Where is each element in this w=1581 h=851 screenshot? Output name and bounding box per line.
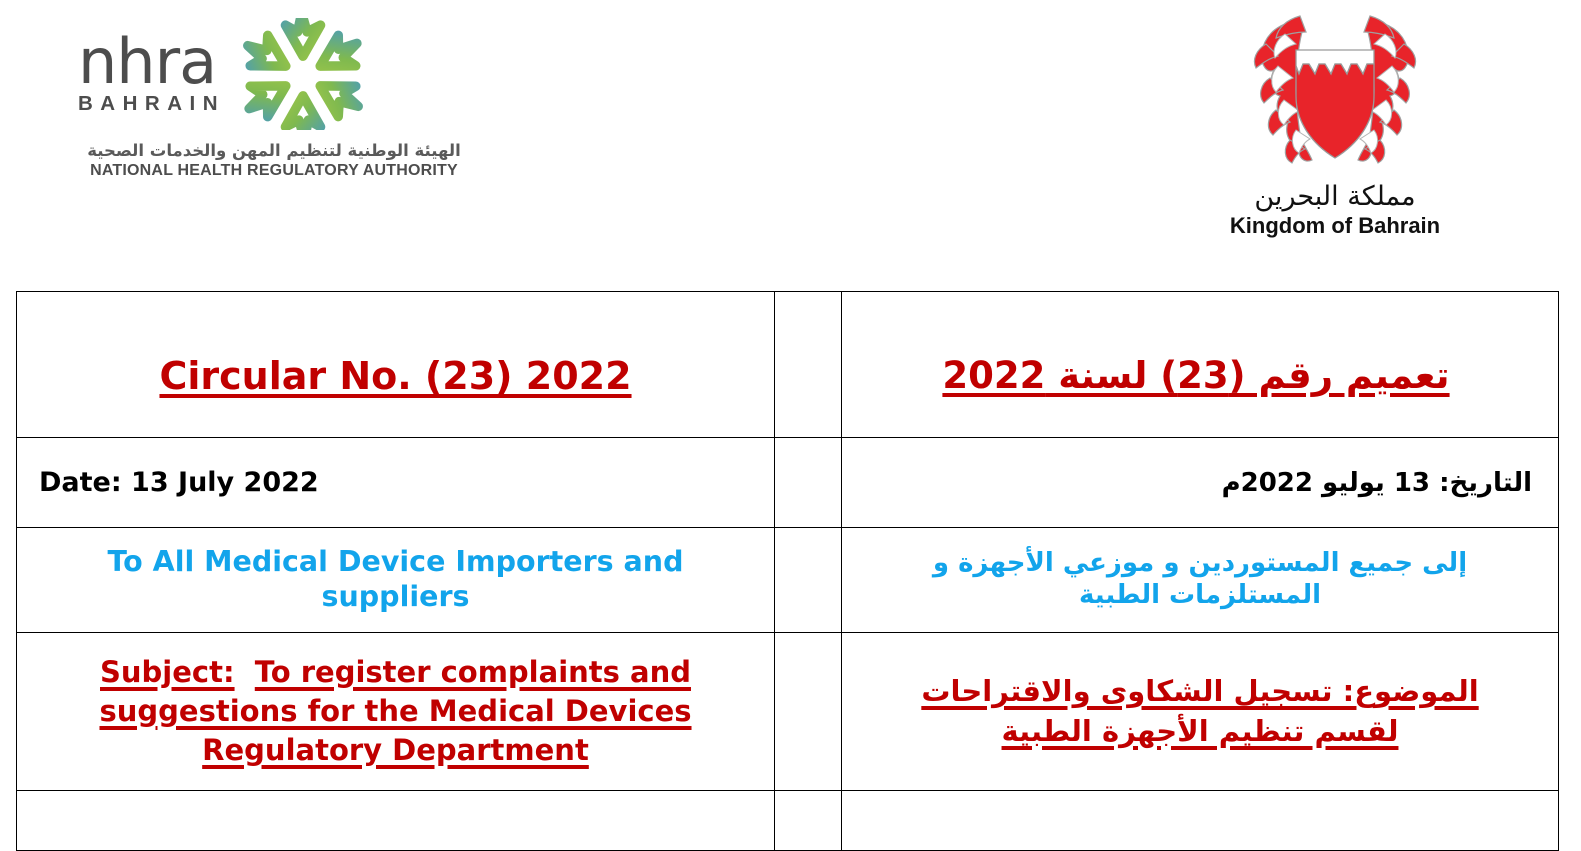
cell-audience-ar: إلى جميع المستوردين و موزعي الأجهزة و ال…: [842, 528, 1559, 633]
cell-subject-ar: الموضوع: تسجيل الشكاوى والاقتراحات لقسم …: [842, 633, 1559, 791]
cell-date-ar: التاريخ: 13 يوليو 2022م: [842, 438, 1559, 528]
cell-spacer-4: [775, 633, 842, 791]
cell-date-en: Date: 13 July 2022: [17, 438, 775, 528]
cell-subject-en: Subject: To register complaints and sugg…: [17, 633, 775, 791]
cell-circular-number-en: Circular No. (23) 2022: [17, 292, 775, 438]
nhra-wordmark-subtext: BAHRAIN: [78, 94, 225, 115]
cell-next-ar: [842, 791, 1559, 851]
table-row-subject: Subject: To register complaints and sugg…: [17, 633, 1559, 791]
bahrain-coat-of-arms-icon: [1230, 4, 1440, 184]
subject-label-english: Subject:: [100, 655, 235, 689]
table-row-next-clipped: [17, 791, 1559, 851]
cell-spacer-5: [775, 791, 842, 851]
nhra-wordmark-text: nhra: [78, 33, 225, 90]
audience-english: To All Medical Device Importers and supp…: [17, 541, 774, 619]
table-row-audience: To All Medical Device Importers and supp…: [17, 528, 1559, 633]
circular-table: Circular No. (23) 2022 تعميم رقم (23) لس…: [16, 291, 1559, 851]
kingdom-of-bahrain-arabic: مملكة البحرين: [1185, 182, 1485, 212]
bahrain-emblem-block: مملكة البحرين Kingdom of Bahrain: [1185, 4, 1485, 239]
cell-audience-en: To All Medical Device Importers and supp…: [17, 528, 775, 633]
nhra-tagline: الهيئة الوطنية لتنظيم المهن والخدمات الص…: [78, 142, 470, 180]
kingdom-of-bahrain-english: Kingdom of Bahrain: [1185, 213, 1485, 239]
cell-circular-number-ar: تعميم رقم (23) لسنة 2022: [842, 292, 1559, 438]
nhra-rosette-icon: [239, 18, 367, 130]
cell-spacer-3: [775, 528, 842, 633]
nhra-logo-top: nhra BAHRAIN: [78, 18, 478, 130]
table-row-circular-number: Circular No. (23) 2022 تعميم رقم (23) لس…: [17, 292, 1559, 438]
date-arabic: التاريخ: 13 يوليو 2022م: [842, 468, 1558, 498]
nhra-tagline-arabic: الهيئة الوطنية لتنظيم المهن والخدمات الص…: [78, 142, 470, 161]
subject-arabic: الموضوع: تسجيل الشكاوى والاقتراحات لقسم …: [842, 666, 1558, 756]
table-row-date: Date: 13 July 2022 التاريخ: 13 يوليو 202…: [17, 438, 1559, 528]
circular-number-english: Circular No. (23) 2022: [27, 345, 764, 399]
cell-spacer-2: [775, 438, 842, 528]
nhra-wordmark: nhra BAHRAIN: [78, 33, 225, 115]
audience-arabic: إلى جميع المستوردين و موزعي الأجهزة و ال…: [842, 544, 1558, 615]
cell-next-en: [17, 791, 775, 851]
nhra-logo-block: nhra BAHRAIN: [78, 18, 478, 180]
subject-english: Subject: To register complaints and sugg…: [17, 647, 774, 776]
subject-text-arabic: الموضوع: تسجيل الشكاوى والاقتراحات لقسم …: [921, 674, 1478, 747]
circular-number-arabic: تعميم رقم (23) لسنة 2022: [852, 345, 1540, 398]
document-header: nhra BAHRAIN: [0, 0, 1581, 268]
cell-spacer-1: [775, 292, 842, 438]
date-english: Date: 13 July 2022: [17, 467, 774, 498]
nhra-tagline-english: NATIONAL HEALTH REGULATORY AUTHORITY: [78, 161, 470, 180]
